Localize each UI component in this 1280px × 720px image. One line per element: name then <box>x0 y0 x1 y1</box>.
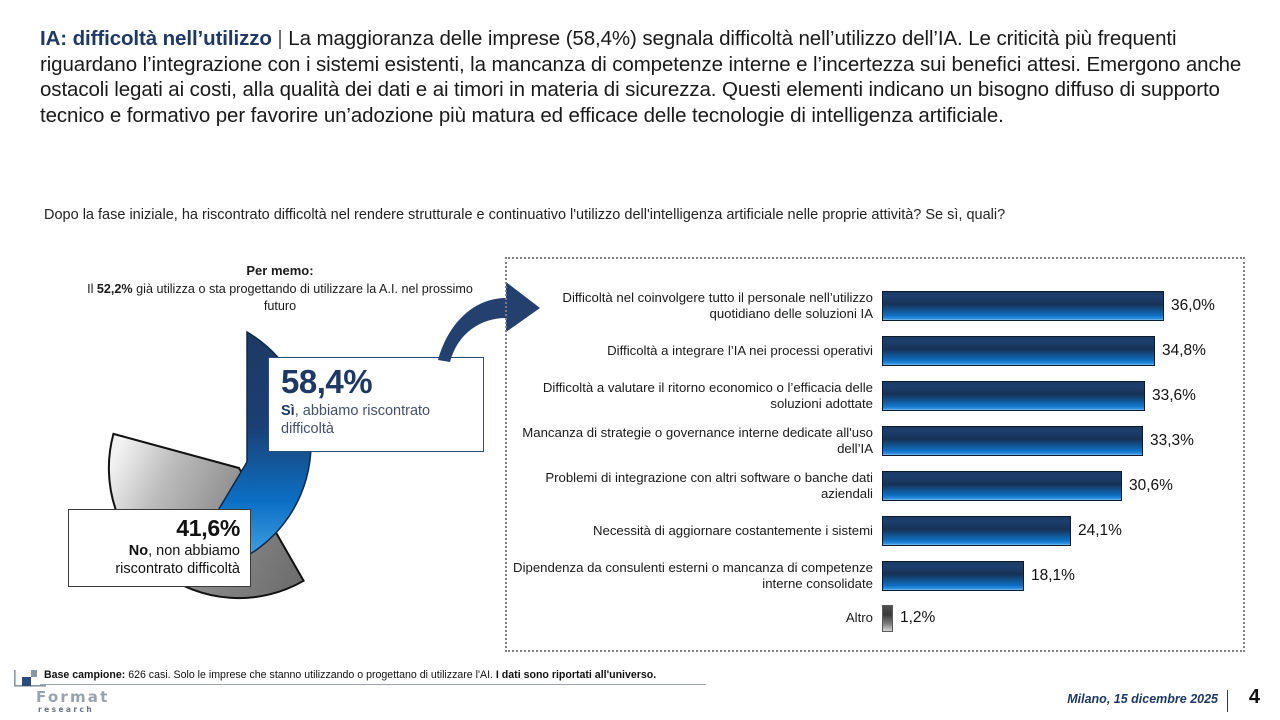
bar-value: 30,6% <box>1122 477 1173 495</box>
bar-track: 33,6% <box>882 374 1247 418</box>
table-row: Difficoltà a integrare l’IA nei processi… <box>507 329 1247 373</box>
bar-track: 33,3% <box>882 419 1247 463</box>
callout-no-label-bold: No <box>129 543 148 559</box>
bar-label: Difficoltà a valutare il ritorno economi… <box>507 380 882 412</box>
bar-fill <box>882 471 1122 501</box>
callout-yes-label-rest: , abbiamo riscontrato difficoltà <box>281 403 430 437</box>
table-row: Necessità di aggiornare costantemente i … <box>507 509 1247 553</box>
bar-fill <box>882 426 1143 456</box>
per-memo-value: 52,2% <box>97 282 133 296</box>
bar-value: 18,1% <box>1024 567 1075 585</box>
per-memo-title: Per memo: <box>85 262 475 279</box>
bar-value: 33,3% <box>1143 432 1194 450</box>
callout-yes-label-bold: Sì <box>281 403 295 419</box>
bar-track: 1,2% <box>882 596 1247 640</box>
bar-label: Necessità di aggiornare costantemente i … <box>507 523 882 539</box>
headline-separator: | <box>277 27 282 50</box>
bar-fill <box>882 516 1071 546</box>
bar-label: Altro <box>507 610 882 626</box>
callout-yes-label: Sì, abbiamo riscontrato difficoltà <box>281 402 473 438</box>
callout-no-value: 41,6% <box>77 515 240 542</box>
bar-value: 1,2% <box>893 609 935 627</box>
bar-track: 36,0% <box>882 284 1247 328</box>
footer-note-bold-2: I dati sono riportati all'universo. <box>496 669 656 681</box>
page-number: 4 <box>1249 686 1260 709</box>
bar-fill <box>882 291 1164 321</box>
bar-track: 30,6% <box>882 464 1247 508</box>
bar-label: Difficoltà a integrare l’IA nei processi… <box>507 343 882 359</box>
per-memo-prefix: Il <box>87 282 97 296</box>
format-research-logo: Format research <box>12 668 122 716</box>
page-separator <box>1227 690 1228 712</box>
logo-mark-icon <box>12 668 52 690</box>
bar-value: 36,0% <box>1164 297 1215 315</box>
bar-fill <box>882 561 1024 591</box>
callout-yes: 58,4% Sì, abbiamo riscontrato difficoltà <box>268 357 484 452</box>
callout-yes-value: 58,4% <box>281 364 473 400</box>
bar-label: Problemi di integrazione con altri softw… <box>507 470 882 502</box>
bar-value: 33,6% <box>1145 387 1196 405</box>
slide-date: Milano, 15 dicembre 2025 <box>1067 692 1218 706</box>
bar-chart: Difficoltà nel coinvolgere tutto il pers… <box>507 262 1247 647</box>
table-row: Mancanza di strategie o governance inter… <box>507 419 1247 463</box>
bar-track: 24,1% <box>882 509 1247 553</box>
bar-label: Difficoltà nel coinvolgere tutto il pers… <box>507 290 882 322</box>
survey-question: Dopo la fase iniziale, ha riscontrato di… <box>44 205 1224 226</box>
bar-fill-other <box>882 605 893 632</box>
bar-track: 18,1% <box>882 554 1247 598</box>
logo-sub: research <box>38 705 94 714</box>
page-title: IA: difficoltà nell’utilizzo | La maggio… <box>40 26 1245 128</box>
callout-no: 41,6% No, non abbiamo riscontrato diffic… <box>68 509 251 587</box>
callout-no-label: No, non abbiamo riscontrato difficoltà <box>77 542 240 578</box>
bar-fill <box>882 381 1145 411</box>
bar-label: Mancanza di strategie o governance inter… <box>507 425 882 457</box>
table-row: Difficoltà a valutare il ritorno economi… <box>507 374 1247 418</box>
table-row: Dipendenza da consulenti esterni o manca… <box>507 554 1247 598</box>
bar-value: 34,8% <box>1155 342 1206 360</box>
slide: IA: difficoltà nell’utilizzo | La maggio… <box>0 0 1280 720</box>
footer-note-text: 626 casi. Solo le imprese che stanno uti… <box>125 669 496 681</box>
footer-divider <box>40 684 706 685</box>
bar-label: Dipendenza da consulenti esterni o manca… <box>507 560 882 592</box>
table-row: Difficoltà nel coinvolgere tutto il pers… <box>507 284 1247 328</box>
table-row: Problemi di integrazione con altri softw… <box>507 464 1247 508</box>
headline-accent: IA: difficoltà nell’utilizzo <box>40 27 272 50</box>
bar-value: 24,1% <box>1071 522 1122 540</box>
footer-note: Base campione: 626 casi. Solo le imprese… <box>44 668 744 682</box>
logo-name: Format <box>36 688 109 706</box>
bar-track: 34,8% <box>882 329 1247 373</box>
per-memo-note: Per memo: Il 52,2% già utilizza o sta pr… <box>85 262 475 315</box>
table-row: Altro 1,2% <box>507 596 1247 640</box>
bar-fill <box>882 336 1155 366</box>
